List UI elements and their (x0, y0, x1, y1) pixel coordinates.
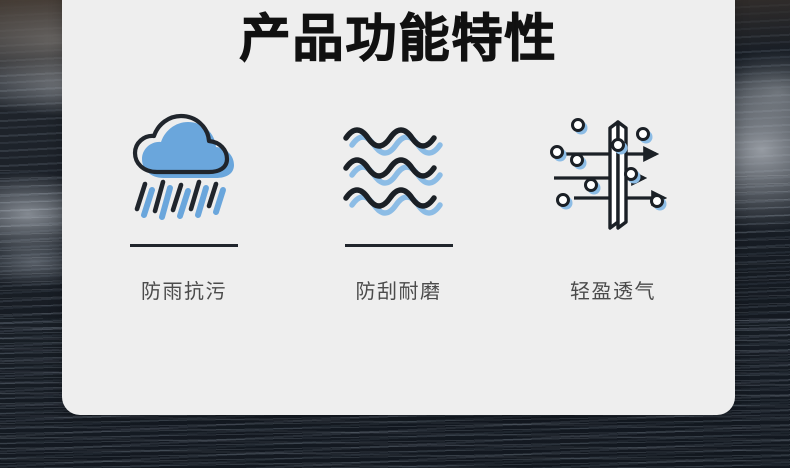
feature-item-breathable: 轻盈透气 (513, 110, 713, 301)
feature-item-scratch-resistant: 防刮耐磨 (299, 110, 499, 301)
rain-cloud-icon (119, 110, 249, 238)
page-root: 产品功能特性 (0, 0, 790, 468)
feature-item-rainproof: 防雨抗污 (84, 110, 284, 301)
icon-divider-rule (345, 244, 453, 247)
features-row: 防雨抗污 (84, 110, 713, 301)
feature-label-breathable: 轻盈透气 (570, 281, 656, 301)
page-title: 产品功能特性 (62, 14, 735, 65)
icon-divider-rule (130, 244, 238, 247)
icon-divider-rule-hidden (559, 244, 667, 247)
breathable-membrane-icon (548, 110, 678, 238)
feature-label-rainproof: 防雨抗污 (141, 281, 227, 301)
feature-label-scratch-resistant: 防刮耐磨 (356, 281, 442, 301)
feature-card: 产品功能特性 (62, 0, 735, 415)
wavy-lines-icon (334, 110, 464, 238)
